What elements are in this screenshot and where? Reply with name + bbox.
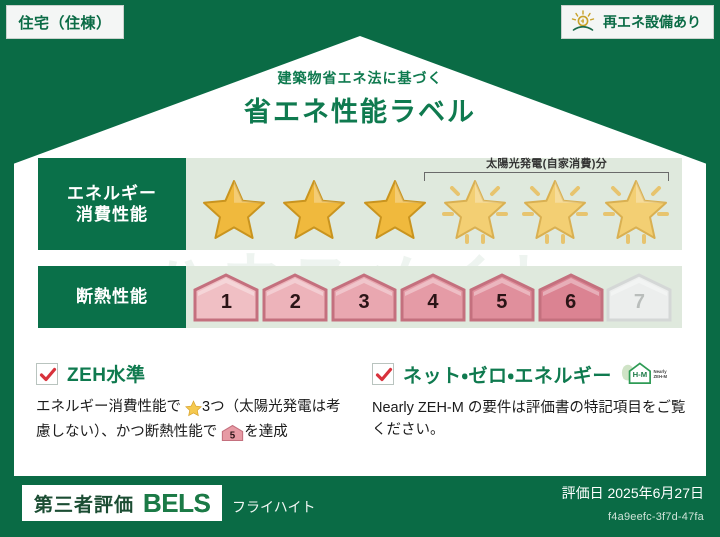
zeh-text-c: を達成 <box>244 424 288 440</box>
svg-text:ZEH-M: ZEH-M <box>653 374 667 379</box>
energy-star-rating <box>194 176 676 246</box>
insulation-grade-number: 3 <box>331 291 397 314</box>
bels-energy-label: 住宅（住棟） 再エネ設備あり 建築物省エネ法に基づく 省エネ性能ラベル ハウスメ… <box>0 0 720 537</box>
company-name: フライハイト <box>232 497 315 517</box>
evaluation-date: 評価日 2025年6月27日 <box>562 483 704 503</box>
bels-logo-text: BELS <box>143 488 210 519</box>
insulation-grade-number: 7 <box>606 291 672 314</box>
renewable-equipment-label: 再エネ設備あり <box>603 12 701 32</box>
energy-performance-value: 太陽光発電(自家消費)分 <box>186 158 682 250</box>
zeh-standard-description: エネルギー消費性能で 3つ（太陽光発電は考慮しない）、かつ断熱性能で 5 を達成 <box>36 396 348 447</box>
insulation-grade-house-active: 2 <box>262 272 328 322</box>
energy-performance-key: エネルギー 消費性能 <box>38 158 186 250</box>
star-icon <box>198 176 270 246</box>
net-zero-energy-description: Nearly ZEH-M の要件は評価書の特記項目をご覧ください。 <box>372 397 690 442</box>
zeh-standard-title: ZEH水準 <box>67 360 146 387</box>
renewable-equipment-badge: 再エネ設備あり <box>561 5 714 39</box>
star-icon-solar <box>600 176 672 246</box>
inline-house-grade-icon: 5 <box>217 427 244 443</box>
insulation-grade-house-active: 5 <box>469 272 535 322</box>
net-zero-energy-checkbox[interactable] <box>372 363 394 385</box>
insulation-grade-number: 6 <box>538 291 604 314</box>
net-zero-energy-block: ネット・ゼロ・エネルギー H-M Nearly ZEH-M Nearly ZEH… <box>372 360 690 442</box>
insulation-grade-house-active: 4 <box>400 272 466 322</box>
insulation-grade-number: 4 <box>400 291 466 314</box>
building-type-badge: 住宅（住棟） <box>6 5 124 39</box>
insulation-grade-scale: 1 2 3 4 5 6 7 <box>192 272 674 322</box>
energy-performance-row: エネルギー 消費性能 太陽光発電(自家消費)分 <box>38 158 682 250</box>
zeh-standard-header: ZEH水準 <box>36 360 348 387</box>
zeh-standard-block: ZEH水準 エネルギー消費性能で 3つ（太陽光発電は考慮しない）、かつ断熱性能で… <box>36 360 348 447</box>
evaluation-id: f4a9eefc-3f7d-47fa <box>608 511 704 523</box>
sun-icon <box>570 10 596 34</box>
insulation-key-label: 断熱性能 <box>76 286 148 307</box>
solar-note-label: 太陽光発電(自家消費)分 <box>424 155 669 171</box>
star-icon-solar <box>519 176 591 246</box>
net-zero-energy-header: ネット・ゼロ・エネルギー H-M Nearly ZEH-M <box>372 360 690 388</box>
third-party-eval-label: 第三者評価 <box>34 490 134 517</box>
insulation-grade-number: 5 <box>469 291 535 314</box>
insulation-performance-value: 1 2 3 4 5 6 7 <box>186 266 682 328</box>
zeh-m-logo-icon: H-M Nearly ZEH-M <box>621 360 669 388</box>
svg-text:H-M: H-M <box>633 370 648 379</box>
zeh-standard-checkbox[interactable] <box>36 363 58 385</box>
insulation-grade-house-active: 1 <box>193 272 259 322</box>
inline-star-icon <box>181 402 202 418</box>
star-icon-solar <box>439 176 511 246</box>
zeh-text-a: エネルギー消費性能で <box>36 399 181 415</box>
insulation-grade-house-inactive: 7 <box>606 272 672 322</box>
insulation-performance-key: 断熱性能 <box>38 266 186 328</box>
label-subtitle: 建築物省エネ法に基づく <box>0 68 720 88</box>
insulation-performance-row: 断熱性能 1 2 3 4 5 6 7 <box>38 266 682 328</box>
building-type-label: 住宅（住棟） <box>18 12 111 33</box>
star-icon <box>278 176 350 246</box>
net-zero-energy-title: ネット・ゼロ・エネルギー <box>403 361 612 388</box>
svg-text:5: 5 <box>230 431 236 442</box>
insulation-grade-number: 2 <box>262 291 328 314</box>
insulation-grade-house-active: 3 <box>331 272 397 322</box>
star-icon <box>359 176 431 246</box>
svg-text:Nearly: Nearly <box>653 369 667 374</box>
insulation-grade-house-active: 6 <box>538 272 604 322</box>
bels-certification-badge: 第三者評価 BELS <box>22 485 222 521</box>
energy-key-line2: 消費性能 <box>76 204 148 225</box>
energy-key-line1: エネルギー <box>67 183 157 204</box>
label-title: 省エネ性能ラベル <box>0 90 720 129</box>
insulation-grade-number: 1 <box>193 291 259 314</box>
